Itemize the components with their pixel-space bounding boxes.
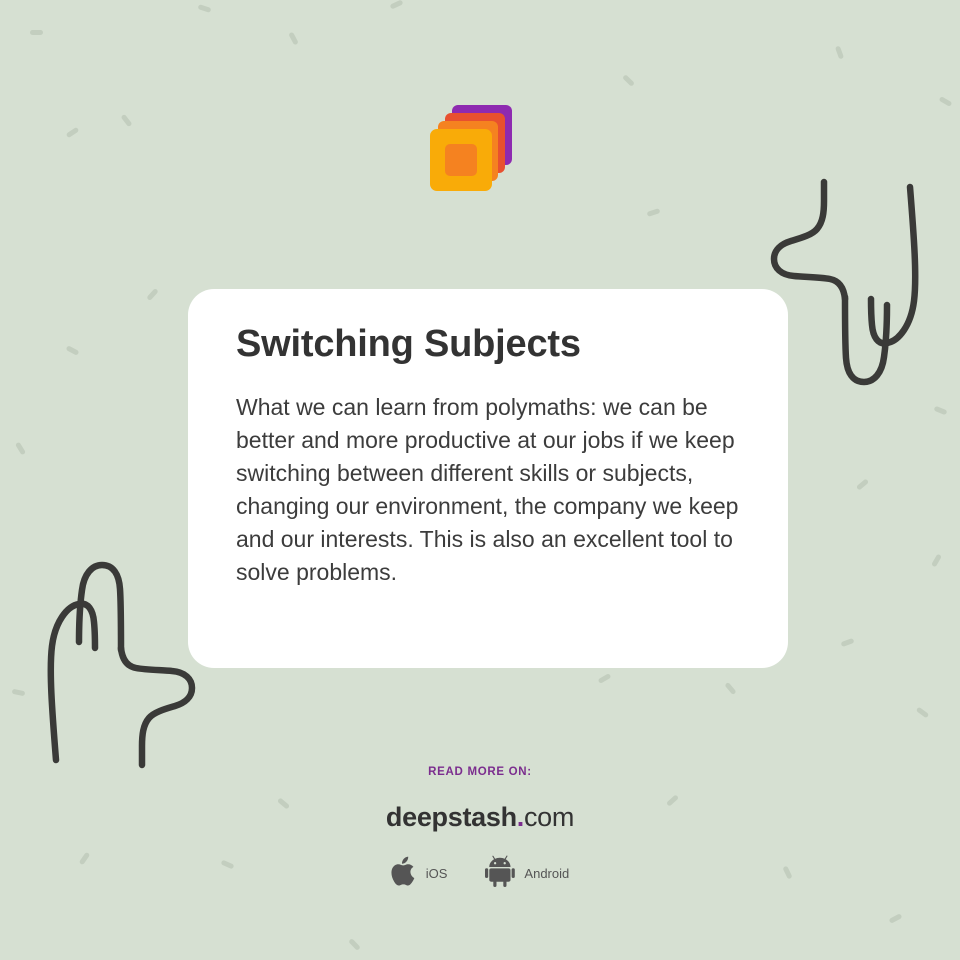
card-title: Switching Subjects: [236, 321, 740, 369]
card-body-text: What we can learn from polymaths: we can…: [236, 369, 740, 589]
confetti-fleck: [916, 707, 929, 719]
confetti-fleck: [856, 478, 869, 490]
confetti-fleck: [889, 913, 903, 924]
confetti-fleck: [288, 32, 299, 46]
deepstash-logo[interactable]: [428, 100, 520, 200]
confetti-fleck: [30, 30, 43, 35]
pointing-hand-icon-bottom-left: [22, 560, 212, 780]
android-icon: [485, 855, 515, 892]
wordmark-name: deepstash: [386, 802, 517, 832]
confetti-fleck: [931, 554, 942, 568]
read-more-label: READ MORE ON:: [0, 766, 960, 778]
app-store-row: iOS Android: [0, 855, 960, 892]
confetti-fleck: [841, 638, 855, 647]
ios-store-link[interactable]: iOS: [391, 856, 448, 891]
confetti-fleck: [647, 208, 661, 217]
deepstash-wordmark[interactable]: deepstash.com: [0, 804, 960, 831]
confetti-fleck: [15, 442, 26, 456]
wordmark-tld: com: [524, 802, 574, 832]
ios-label: iOS: [426, 866, 448, 881]
confetti-fleck: [66, 345, 80, 356]
confetti-fleck: [121, 114, 133, 127]
confetti-fleck: [146, 288, 158, 301]
apple-icon: [391, 856, 417, 891]
confetti-fleck: [724, 682, 736, 695]
confetti-fleck: [835, 46, 844, 60]
confetti-fleck: [66, 127, 80, 138]
android-store-link[interactable]: Android: [485, 855, 569, 892]
android-label: Android: [524, 866, 569, 881]
confetti-fleck: [939, 96, 953, 107]
confetti-fleck: [390, 0, 404, 10]
confetti-fleck: [622, 74, 635, 87]
idea-card-page: Switching Subjects What we can learn fro…: [0, 0, 960, 960]
confetti-fleck: [198, 4, 212, 13]
footer: READ MORE ON: deepstash.com iOS: [0, 766, 960, 892]
wordmark-dot: .: [517, 802, 524, 832]
confetti-fleck: [934, 406, 948, 416]
confetti-fleck: [348, 938, 361, 951]
confetti-fleck: [598, 673, 612, 684]
idea-card: Switching Subjects What we can learn fro…: [188, 289, 788, 668]
